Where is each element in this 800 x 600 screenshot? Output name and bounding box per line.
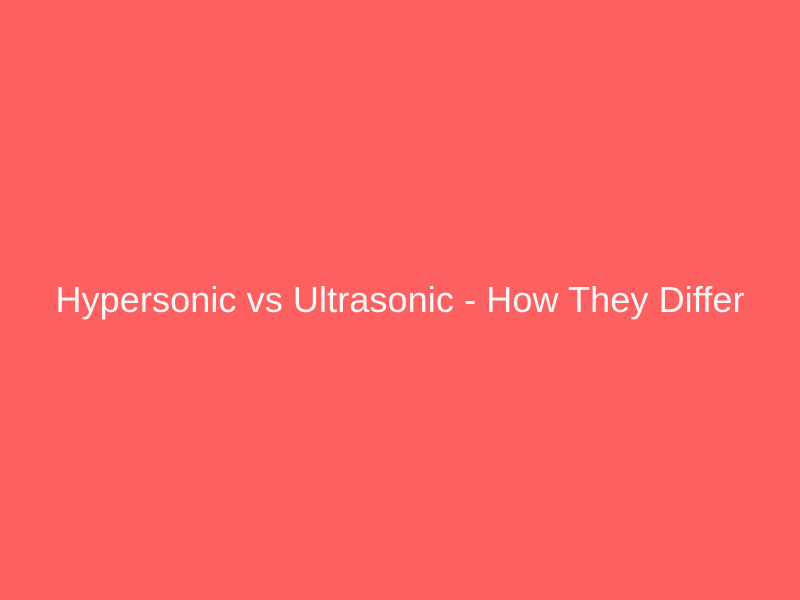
banner-title: Hypersonic vs Ultrasonic - How They Diff… (40, 278, 760, 321)
banner-card: Hypersonic vs Ultrasonic - How They Diff… (0, 0, 800, 600)
banner-content: Hypersonic vs Ultrasonic - How They Diff… (0, 278, 800, 321)
